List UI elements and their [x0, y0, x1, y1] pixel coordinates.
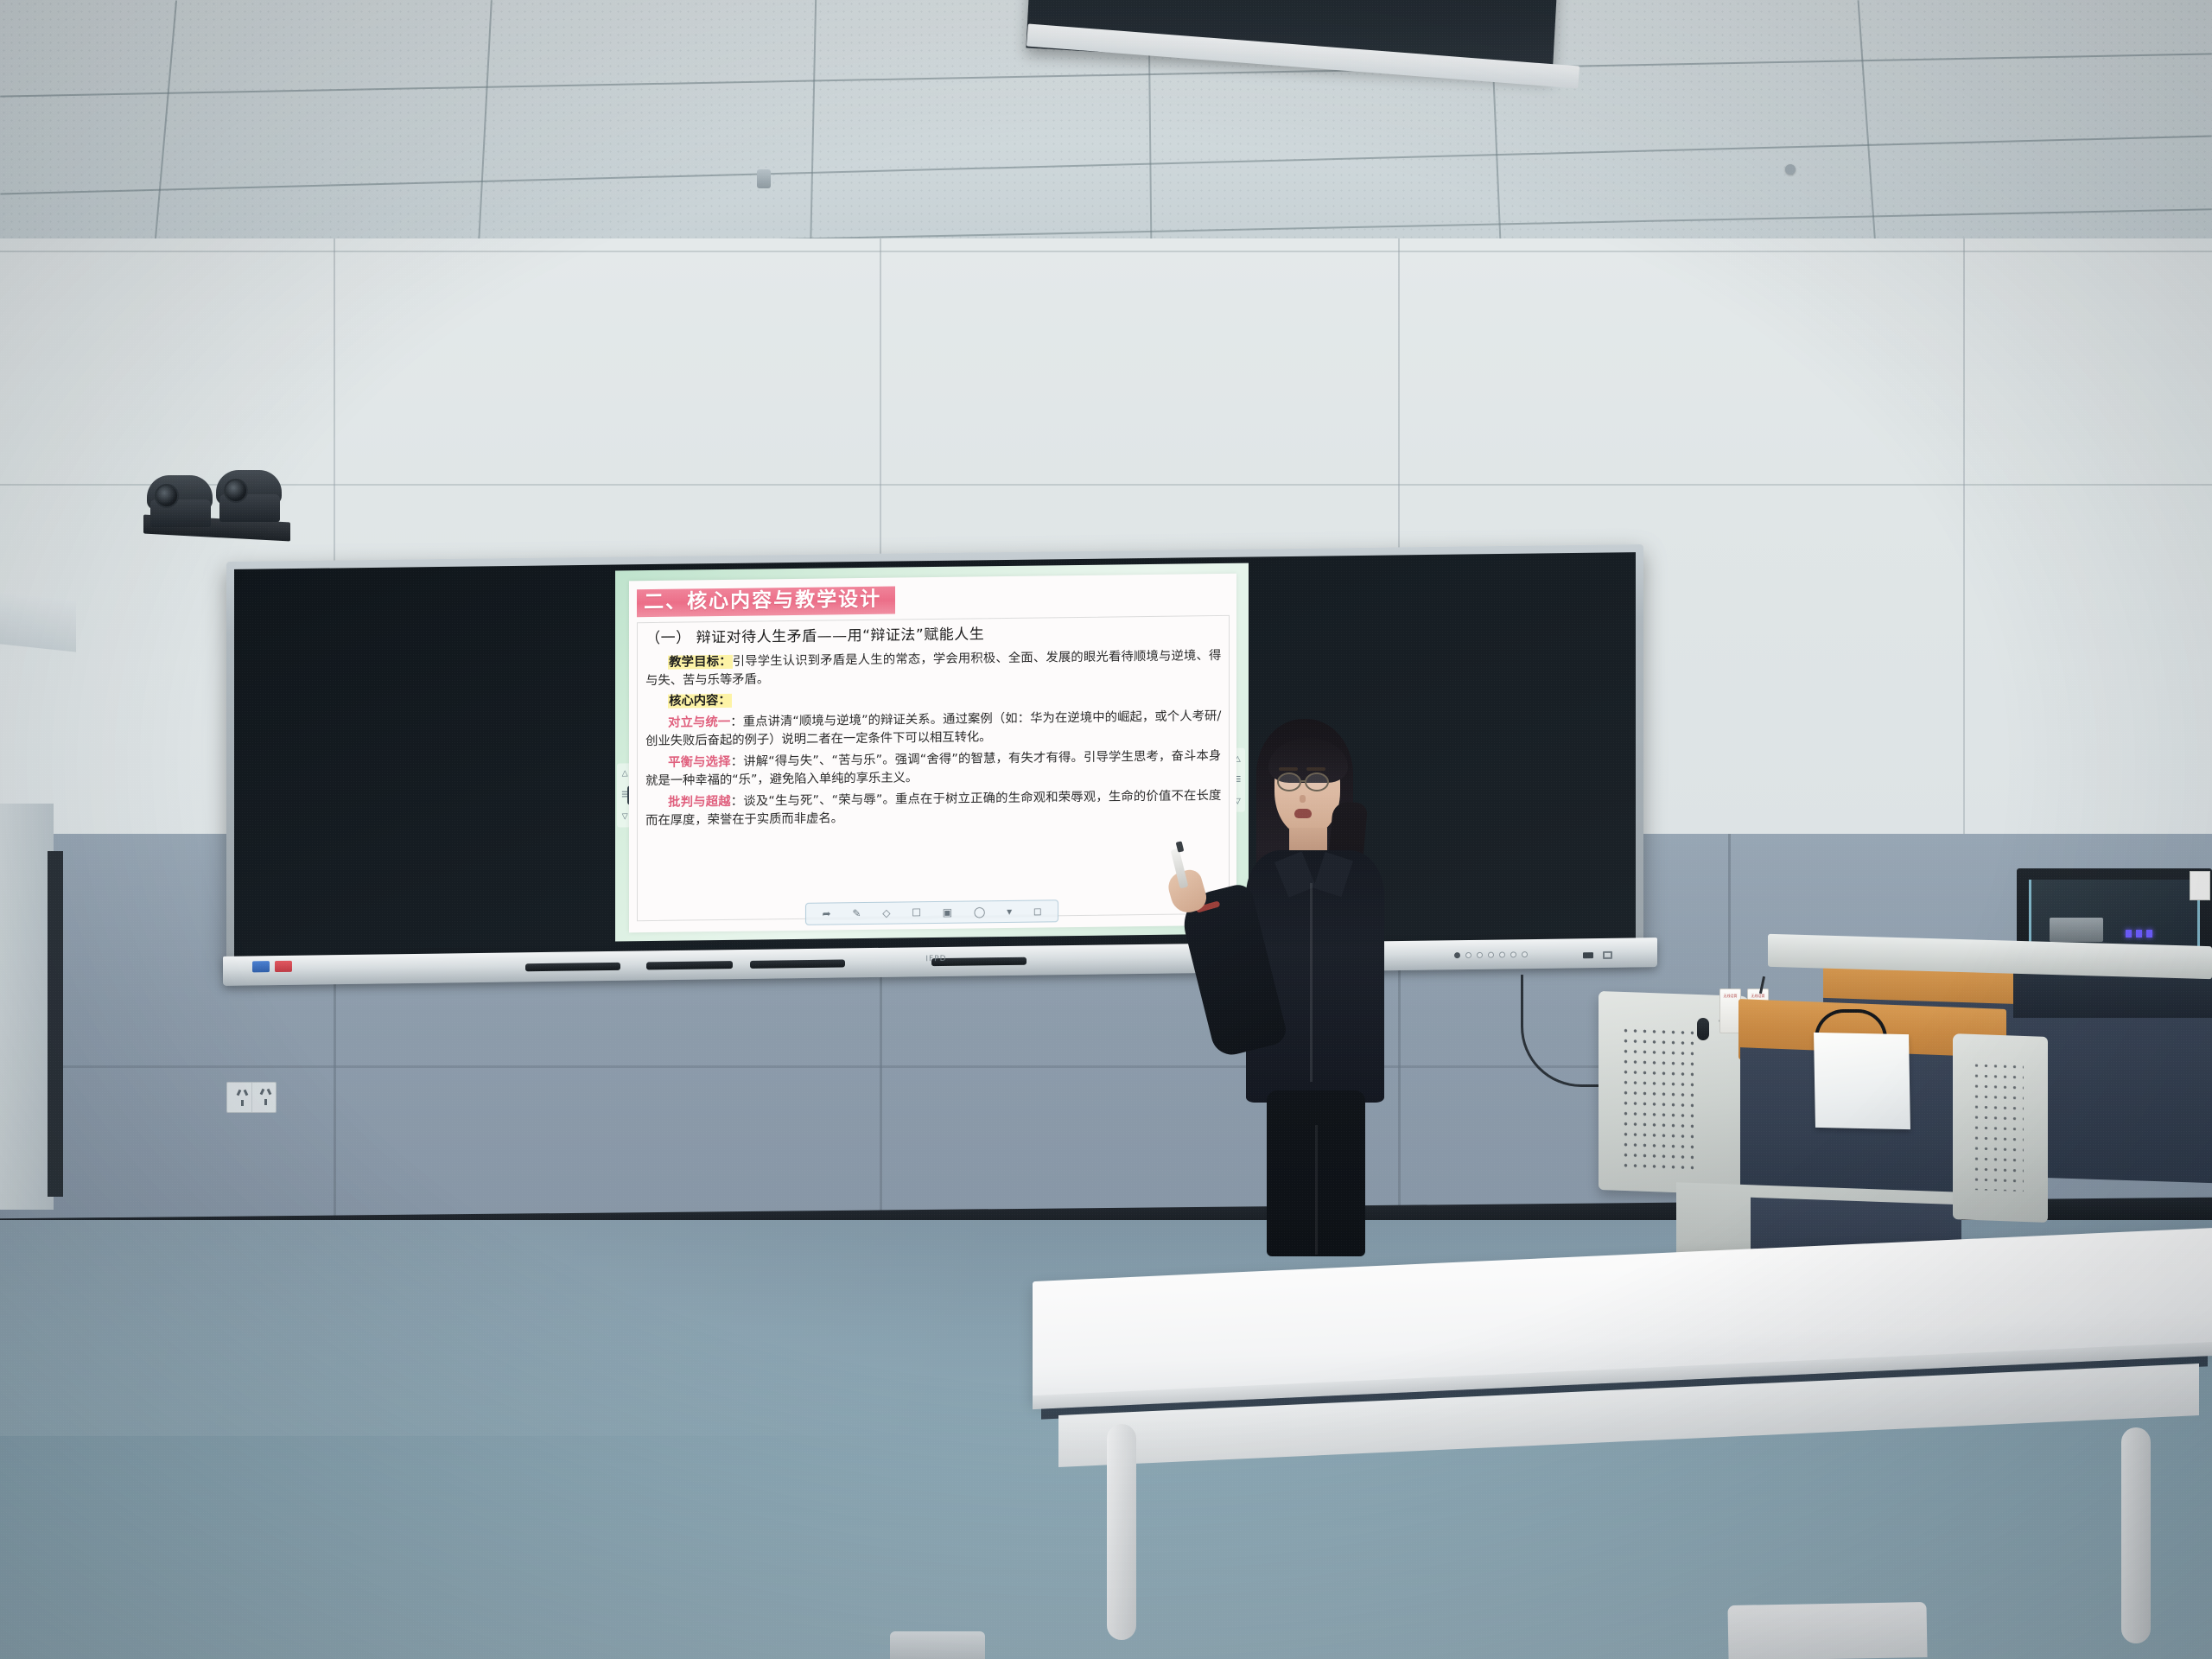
rack-label-card	[2190, 871, 2210, 900]
lectern-right-grille	[1972, 1060, 2024, 1192]
lectern-knob[interactable]	[1697, 1018, 1709, 1040]
slide-section-heading: （一） 辩证对待人生矛盾——用“辩证法”赋能人生	[645, 621, 1221, 651]
board-frame: △ ☰ ▽ △ ☰ ▽ 二、核心内容与教学设计 （一） 辩证对待人生矛盾——用“…	[226, 544, 1643, 968]
core-label: 核心内容：	[668, 694, 731, 709]
close-icon[interactable]: ◻	[1033, 906, 1042, 917]
mic-label-left: 无线话筒	[1722, 994, 1738, 1028]
slide-point-1: 对立与统一：重点讲清“顺境与逆境”的辩证关系。通过案例（如：华为在逆境中的崛起，…	[645, 708, 1221, 751]
shape-icon[interactable]: ◇	[882, 908, 890, 918]
presentation-slide[interactable]: △ ☰ ▽ △ ☰ ▽ 二、核心内容与教学设计 （一） 辩证对待人生矛盾——用“…	[615, 563, 1249, 941]
point-1-text: ：重点讲清“顺境与逆境”的辩证关系。通过案例（如：华为在逆境中的崛起，或个人考研…	[645, 709, 1221, 748]
rack-status-leds	[2126, 930, 2152, 938]
chevron-down-icon[interactable]: ▽	[622, 812, 628, 821]
chevron-up-icon[interactable]: △	[622, 770, 628, 779]
ptz-camera-left-icon	[147, 474, 214, 531]
goal-text: 引导学生认识到矛盾是人生的常态，学会用积极、全面、发展的眼光看待顺境与逆境、得与…	[645, 649, 1221, 688]
glasses-bridge	[1301, 780, 1306, 782]
slide-page: 二、核心内容与教学设计 （一） 辩证对待人生矛盾——用“辩证法”赋能人生 教学目…	[629, 573, 1236, 932]
text-icon[interactable]: ☐	[912, 907, 921, 918]
presenter	[1236, 719, 1400, 1255]
stylus-slot-1[interactable]	[525, 963, 620, 971]
glasses-lens-left	[1277, 772, 1301, 791]
point-2-label: 平衡与选择	[668, 755, 731, 770]
outlet-socket-left[interactable]	[227, 1083, 252, 1112]
ceiling-sensor	[1785, 164, 1796, 175]
classroom-photo: △ ☰ ▽ △ ☰ ▽ 二、核心内容与教学设计 （一） 辩证对待人生矛盾——用“…	[0, 0, 2212, 1659]
foreground-object	[890, 1631, 985, 1659]
left-wall-stub	[0, 592, 76, 652]
foreground-table[interactable]	[1033, 1255, 2212, 1659]
glasses-lens-right	[1305, 772, 1329, 791]
eyebrow-right	[1306, 767, 1325, 771]
slide-body: （一） 辩证对待人生矛盾——用“辩证法”赋能人生 教学目标：引导学生认识到矛盾是…	[637, 615, 1230, 921]
eraser-icon[interactable]: ▣	[943, 907, 952, 918]
lectern[interactable]: 无线话筒 无线话筒	[1547, 942, 2031, 1253]
slide-goal-paragraph: 教学目标：引导学生认识到矛盾是人生的常态，学会用积极、全面、发展的眼光看待顺境与…	[645, 647, 1221, 690]
slide-point-3: 批判与超越：谈及“生与死”、“荣与辱”。重点在于树立正确的生命观和荣辱观，生命的…	[645, 787, 1221, 830]
slide-core-label-line: 核心内容：	[645, 686, 1221, 711]
wall-outlet[interactable]	[226, 1082, 276, 1113]
red-marker[interactable]	[275, 961, 292, 972]
point-3-text: ：谈及“生与死”、“荣与辱”。重点在于树立正确的生命观和荣辱观，生命的价值不在长…	[645, 789, 1221, 828]
slide-title: 二、核心内容与教学设计	[637, 586, 895, 617]
trouser-seam	[1315, 1125, 1318, 1255]
pen-icon[interactable]: ✎	[852, 908, 861, 918]
shirt-placket	[1310, 883, 1313, 1082]
table-leg-left	[1107, 1424, 1136, 1640]
point-3-label: 批判与超越	[668, 795, 731, 810]
point-2-text: ：讲解“得与失”、“苦与乐”。强调“舍得”的智慧，有失才有得。引导学生思考，奋斗…	[645, 749, 1221, 788]
lectern-speaker-grille	[1621, 1026, 1694, 1175]
cursor-icon[interactable]: ➦	[823, 909, 831, 919]
left-wall-column	[0, 804, 54, 1210]
stylus-slot-3[interactable]	[750, 959, 845, 968]
board-status-dots[interactable]	[1454, 951, 1528, 958]
nose	[1300, 795, 1306, 803]
blue-marker[interactable]	[252, 961, 270, 972]
outlet-socket-right[interactable]	[252, 1083, 276, 1112]
mouth	[1294, 809, 1312, 818]
slide-point-2: 平衡与选择：讲解“得与失”、“苦与乐”。强调“舍得”的智慧，有失才有得。引导学生…	[645, 747, 1221, 791]
annotation-toolbar[interactable]: ➦ ✎ ◇ ☐ ▣ ◯ ▾ ◻	[805, 899, 1058, 925]
left-column-shadow	[48, 851, 63, 1197]
board-brand-label: IFPD	[925, 955, 946, 963]
board-screen[interactable]: △ ☰ ▽ △ ☰ ▽ 二、核心内容与教学设计 （一） 辩证对待人生矛盾——用“…	[234, 552, 1636, 960]
more-icon[interactable]: ◯	[974, 906, 985, 917]
foreground-chair[interactable]	[1727, 1602, 1927, 1659]
paper-sheet[interactable]	[1814, 1033, 1910, 1129]
table-leg-right	[2121, 1427, 2151, 1643]
sprinkler-head	[757, 169, 771, 188]
point-1-label: 对立与统一	[668, 715, 730, 730]
ptz-camera-right-icon	[216, 468, 283, 525]
rack-device	[2050, 918, 2103, 942]
eyebrow-left	[1279, 767, 1298, 771]
chevron-down-icon-toolbar[interactable]: ▾	[1007, 906, 1012, 917]
stylus-slot-2[interactable]	[646, 961, 733, 969]
interactive-smartboard[interactable]: △ ☰ ▽ △ ☰ ▽ 二、核心内容与教学设计 （一） 辩证对待人生矛盾——用“…	[226, 544, 1643, 968]
goal-label: 教学目标：	[668, 655, 733, 670]
